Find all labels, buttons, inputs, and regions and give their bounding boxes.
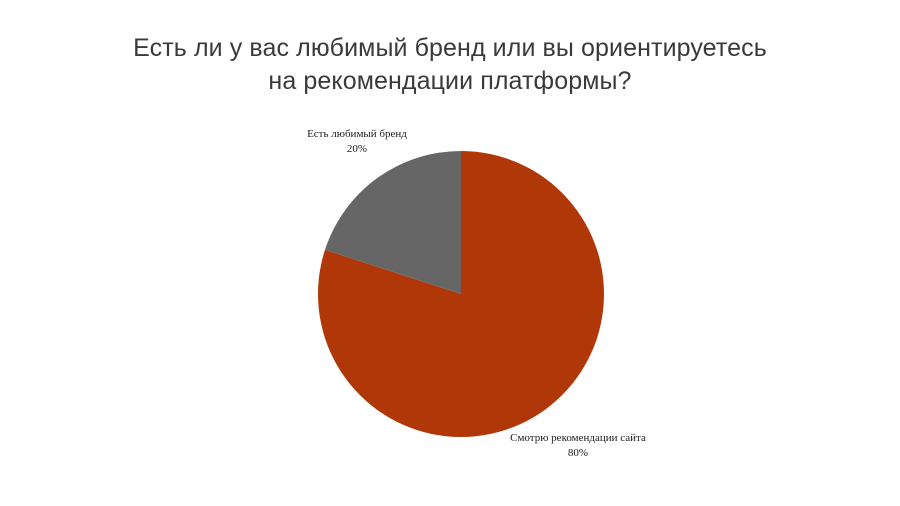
data-label-brand-percent: 20% [232, 142, 482, 157]
data-label-recommendations-percent: 80% [453, 446, 703, 461]
data-label-brand: Есть любимый бренд 20% [232, 127, 482, 157]
data-label-recommendations: Смотрю рекомендации сайта 80% [453, 431, 703, 461]
slide-canvas: Есть ли у вас любимый бренд или вы ориен… [0, 0, 900, 506]
pie-chart-svg [0, 0, 900, 506]
pie-chart [0, 0, 900, 506]
data-label-recommendations-name: Смотрю рекомендации сайта [453, 431, 703, 446]
data-label-brand-name: Есть любимый бренд [232, 127, 482, 142]
